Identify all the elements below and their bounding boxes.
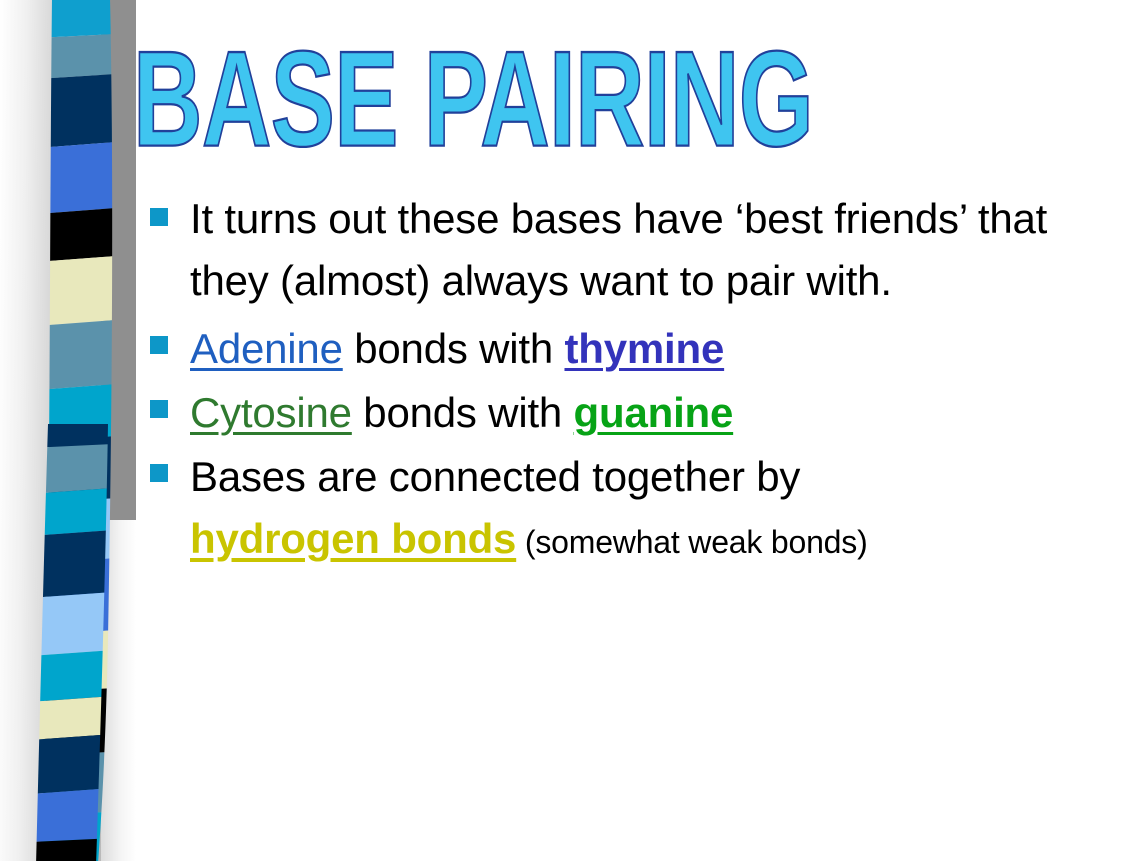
- slide-title: BASE PAIRING: [133, 22, 833, 167]
- title-text: BASE PAIRING: [133, 24, 813, 175]
- bullet-3-text: Cytosine bonds with guanine: [190, 382, 1135, 444]
- bullet-4-note: (somewhat weak bonds): [516, 524, 867, 560]
- bullet-1-text: It turns out these bases have ‘best frie…: [190, 188, 1135, 312]
- list-item: Bases are connected together by hydrogen…: [150, 446, 1135, 573]
- bullet-4-prefix: Bases are connected together by: [190, 453, 800, 500]
- bullet-3-connector: bonds with: [352, 389, 574, 436]
- left-decorative-band: [0, 0, 136, 861]
- list-item: Adenine bonds with thymine: [150, 318, 1135, 380]
- slide-canvas: BASE PAIRING It turns out these bases ha…: [0, 0, 1145, 861]
- term-hydrogen-bonds: hydrogen bonds: [190, 515, 516, 562]
- term-cytosine: Cytosine: [190, 389, 352, 436]
- bullet-2-text: Adenine bonds with thymine: [190, 318, 1135, 380]
- bullet-square-icon: [150, 464, 168, 482]
- list-item: Cytosine bonds with guanine: [150, 382, 1135, 444]
- slide-body: It turns out these bases have ‘best frie…: [150, 188, 1135, 577]
- bullet-square-icon: [150, 336, 168, 354]
- bullet-2-connector: bonds with: [343, 325, 565, 372]
- bullet-4-note-text: (somewhat weak bonds): [525, 524, 868, 560]
- bullet-square-icon: [150, 400, 168, 418]
- term-thymine: thymine: [564, 325, 724, 372]
- list-item: It turns out these bases have ‘best frie…: [150, 188, 1135, 312]
- title-wordart: BASE PAIRING: [133, 22, 833, 167]
- bullet-square-icon: [150, 208, 168, 226]
- stripe-group-lower: [30, 424, 114, 861]
- color-stripe-column-lower: [30, 424, 110, 861]
- bullet-4-text: Bases are connected together by hydrogen…: [190, 446, 1135, 573]
- bullet-1-body: It turns out these bases have ‘best frie…: [190, 195, 1047, 304]
- term-guanine: guanine: [574, 389, 734, 436]
- term-adenine: Adenine: [190, 325, 343, 372]
